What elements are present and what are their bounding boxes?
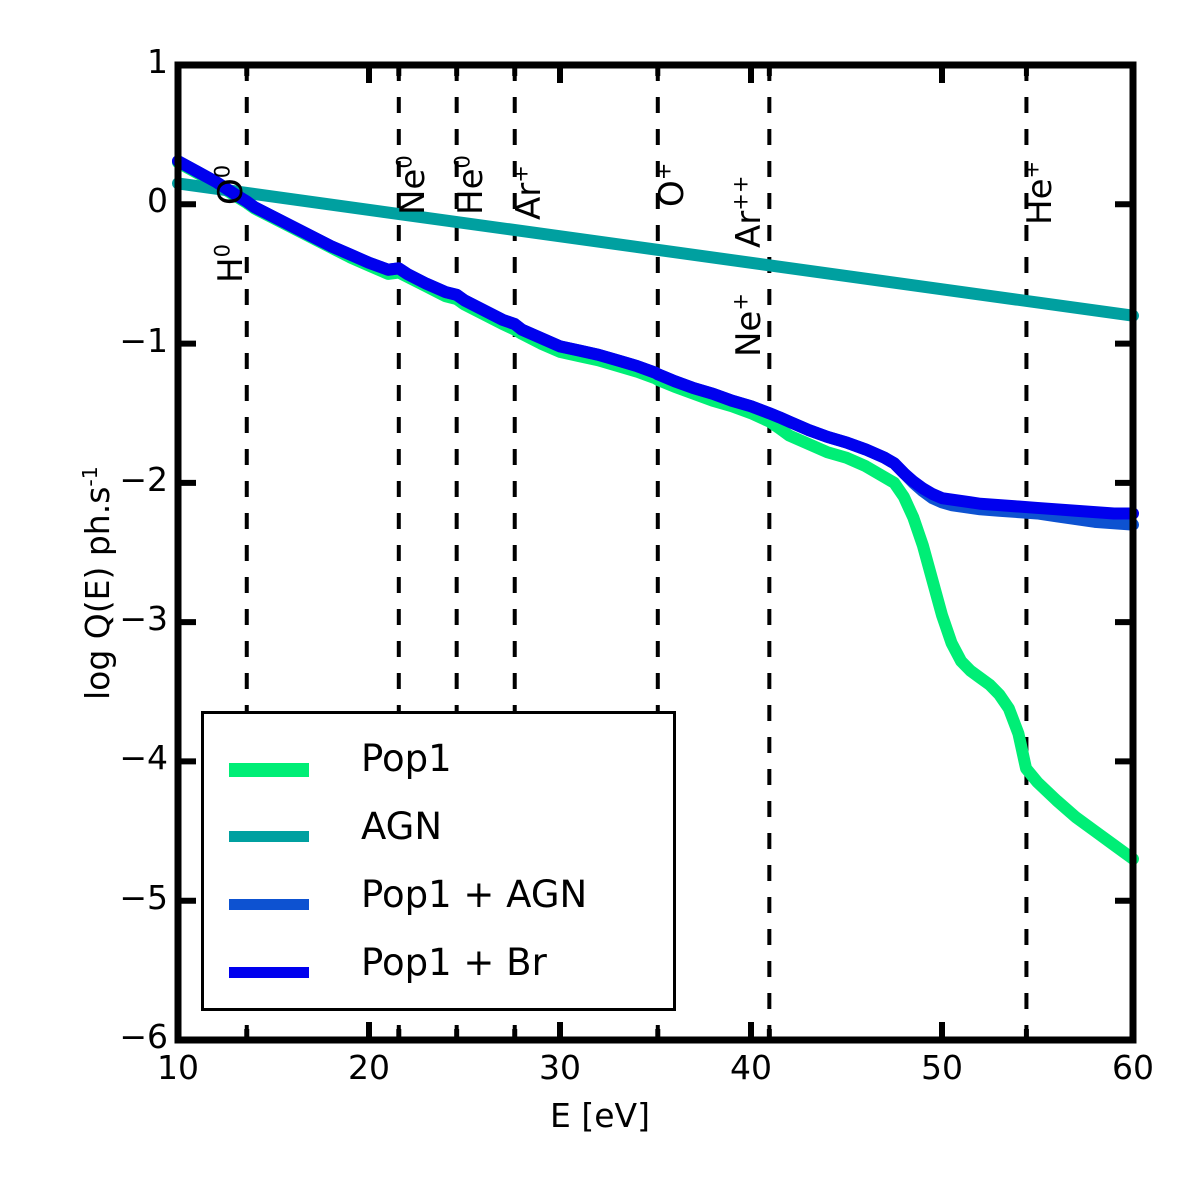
x-tick-label: 40	[727, 1048, 775, 1087]
legend-swatch-1	[229, 831, 309, 842]
x-axis-title: E [eV]	[0, 1096, 1200, 1135]
y-axis-title-exponent: -1	[78, 466, 102, 486]
vline-label-element: He	[1020, 179, 1060, 225]
vline-label-charge: +	[1019, 161, 1044, 179]
legend-swatch-3	[229, 967, 309, 978]
vline-label-charge: +	[650, 163, 675, 181]
vline-label-charge: 0	[209, 165, 234, 178]
vline-label-Hneutral: H0	[211, 244, 251, 283]
vline-label-element: O	[652, 180, 692, 207]
y-tick-label: −1	[119, 321, 168, 360]
y-axis-title: log Q(E) ph.s-1	[78, 466, 117, 700]
vline-label-Oneutral: O0	[211, 165, 251, 205]
x-tick-label: 50	[918, 1048, 966, 1087]
y-axis-title-text: log Q(E) ph.s	[78, 487, 117, 700]
vline-label-charge: +	[728, 293, 753, 311]
vline-label-Oplus: O+	[652, 163, 692, 207]
y-tick-label: 0	[147, 181, 168, 220]
vline-label-element: H	[211, 257, 251, 283]
vline-label-element: Ar	[729, 211, 769, 248]
legend-swatch-2	[229, 899, 309, 910]
series-line-pop1-br	[178, 161, 1133, 513]
vline-label-charge: 0	[391, 155, 416, 168]
y-tick-label: −2	[119, 460, 168, 499]
vline-label-charge: 0	[449, 155, 474, 168]
vline-label-element: Ne	[729, 311, 769, 357]
y-tick-label: −5	[119, 878, 168, 917]
y-tick-label: 1	[147, 42, 168, 81]
legend-label-2: Pop1 + AGN	[361, 873, 587, 916]
series-line-pop1-agn	[178, 161, 1133, 525]
vline-label-Heplus: He+	[1020, 161, 1060, 225]
legend-swatch-0	[229, 763, 309, 777]
vline-label-Neplus: Ne+	[729, 293, 769, 357]
y-tick-label: −4	[119, 738, 168, 777]
vline-label-Arplus+: Ar++	[729, 175, 769, 248]
vline-label-Arplus: Ar+	[509, 165, 549, 220]
vline-label-charge: ++	[728, 175, 753, 210]
y-tick-label: −3	[119, 599, 168, 638]
figure-canvas: 102030405060 −6−5−4−3−2−101 H0O0Ne0He0Ar…	[0, 0, 1200, 1200]
vline-label-Heneutral: He0	[451, 155, 491, 215]
x-tick-label: 60	[1109, 1048, 1157, 1087]
vline-label-element: O	[211, 178, 251, 205]
vline-label-charge: +	[507, 165, 532, 183]
vline-label-charge: 0	[209, 244, 234, 257]
x-tick-label: 30	[536, 1048, 584, 1087]
vline-label-element: Ar	[509, 183, 549, 220]
legend-label-3: Pop1 + Br	[361, 941, 547, 984]
x-tick-label: 20	[345, 1048, 393, 1087]
vline-label-element: He	[451, 169, 491, 215]
legend-label-0: Pop1	[361, 737, 452, 780]
vline-label-Neneutral: Ne0	[393, 155, 433, 215]
y-tick-label: −6	[119, 1017, 168, 1056]
legend-label-1: AGN	[361, 805, 442, 848]
vline-label-element: Ne	[393, 169, 433, 215]
